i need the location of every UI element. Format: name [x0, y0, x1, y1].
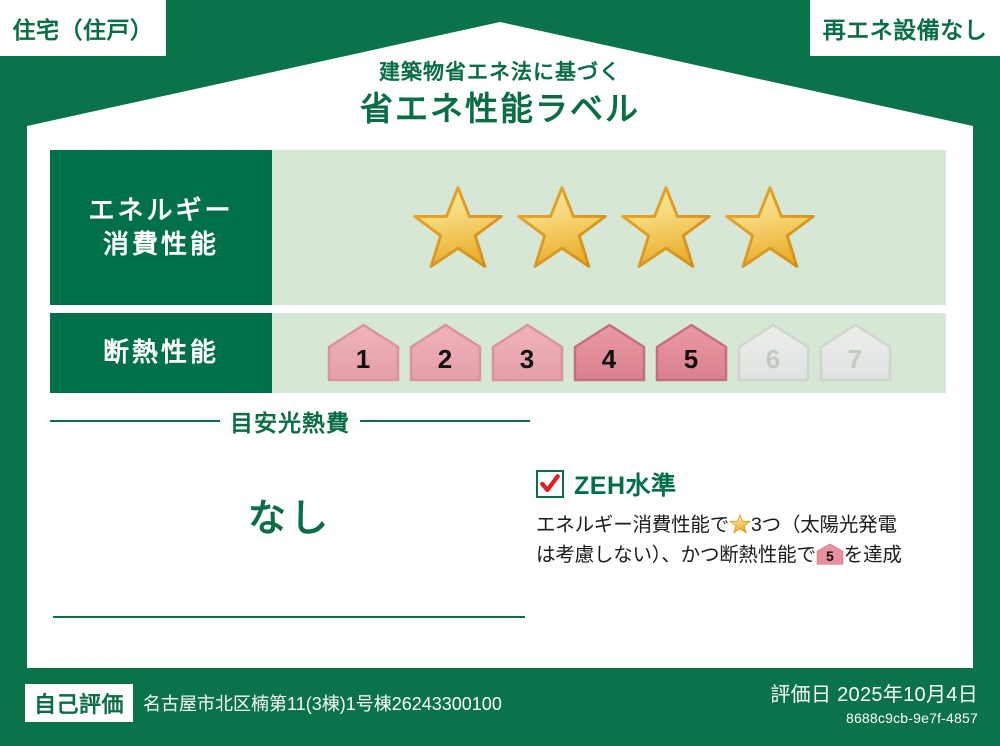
inline-grade-badge: 5	[816, 543, 844, 566]
insulation-performance-row: 断熱性能 1234567	[50, 313, 946, 393]
heading-rule-left	[50, 420, 220, 422]
insulation-grade-number: 6	[735, 322, 812, 384]
energy-performance-row: エネルギー 消費性能	[50, 150, 946, 305]
insulation-grade-number: 1	[325, 322, 402, 384]
insulation-grade-badge: 7	[817, 322, 894, 384]
star-icon	[410, 180, 506, 276]
insulation-grade-number: 3	[489, 322, 566, 384]
title-block: 建築物省エネ法に基づく 省エネ性能ラベル	[0, 60, 1000, 131]
insulation-performance-value: 1234567	[272, 313, 946, 393]
star-icon	[514, 180, 610, 276]
check-icon	[538, 472, 562, 496]
star-icon	[618, 180, 714, 276]
star-rating	[410, 180, 818, 276]
insulation-grade-number: 2	[407, 322, 484, 384]
insulation-grade-number: 7	[817, 322, 894, 384]
insulation-grade-badge: 6	[735, 322, 812, 384]
energy-performance-label: 住宅（住戸） 再エネ設備なし 建築物省エネ法に基づく 省エネ性能ラベル エネルギ…	[0, 0, 1000, 746]
energy-performance-label: エネルギー 消費性能	[50, 150, 272, 305]
utility-cost-bottom-rule	[53, 616, 525, 618]
insulation-performance-label: 断熱性能	[50, 313, 272, 393]
insulation-grade-badge: 5	[653, 322, 730, 384]
zeh-description: エネルギー消費性能で3つ（太陽光発電 は考慮しない）、かつ断熱性能で5を達成	[536, 511, 948, 570]
self-evaluation-badge: 自己評価	[25, 684, 133, 722]
badge-housing-type: 住宅（住戸）	[0, 0, 166, 56]
badge-housing-type-label: 住宅（住戸）	[13, 11, 154, 45]
zeh-checkbox[interactable]	[536, 470, 564, 498]
insulation-performance-label-text: 断熱性能	[103, 336, 219, 369]
insulation-grade-badge: 4	[571, 322, 648, 384]
evaluation-date: 評価日 2025年10月4日	[770, 678, 978, 707]
star-icon	[722, 180, 818, 276]
property-address: 名古屋市北区楠第11(3棟)1号棟26243300100	[143, 690, 502, 716]
footer-left: 自己評価 名古屋市北区楠第11(3棟)1号棟26243300100	[25, 684, 502, 722]
utility-cost-value: なし	[50, 487, 530, 542]
star-icon	[729, 513, 751, 535]
document-id: 8688c9cb-9e7f-4857	[770, 710, 978, 726]
energy-performance-value	[272, 150, 946, 305]
heading-rule-right	[360, 420, 530, 422]
zeh-desc-part1: エネルギー消費性能で	[536, 514, 729, 536]
zeh-desc-star-count: 3つ（太陽光発電	[751, 514, 897, 536]
insulation-grade-list: 1234567	[325, 322, 894, 384]
energy-performance-label-line1: エネルギー	[88, 194, 233, 227]
utility-cost-heading: 目安光熱費	[50, 404, 530, 438]
insulation-grade-badge: 2	[407, 322, 484, 384]
badge-renewable-energy: 再エネ設備なし	[810, 0, 1000, 56]
energy-performance-label-line2: 消費性能	[103, 228, 219, 261]
footer: 自己評価 名古屋市北区楠第11(3棟)1号棟26243300100 評価日 20…	[0, 668, 1000, 746]
insulation-grade-number: 4	[571, 322, 648, 384]
zeh-block: ZEH水準 エネルギー消費性能で3つ（太陽光発電 は考慮しない）、かつ断熱性能で…	[536, 466, 948, 570]
utility-cost-heading-text: 目安光熱費	[230, 404, 350, 438]
zeh-title: ZEH水準	[574, 466, 677, 502]
insulation-grade-number: 5	[653, 322, 730, 384]
inline-grade-number: 5	[816, 543, 844, 566]
insulation-grade-badge: 3	[489, 322, 566, 384]
zeh-desc-part2: は考慮しない）、かつ断熱性能で	[536, 544, 816, 566]
zeh-desc-part3: を達成	[844, 544, 902, 566]
title-subtitle: 建築物省エネ法に基づく	[0, 60, 1000, 86]
zeh-heading: ZEH水準	[536, 466, 948, 502]
footer-right: 評価日 2025年10月4日 8688c9cb-9e7f-4857	[770, 678, 978, 726]
page-title: 省エネ性能ラベル	[0, 88, 1000, 131]
badge-renewable-energy-label: 再エネ設備なし	[823, 11, 988, 45]
insulation-grade-badge: 1	[325, 322, 402, 384]
